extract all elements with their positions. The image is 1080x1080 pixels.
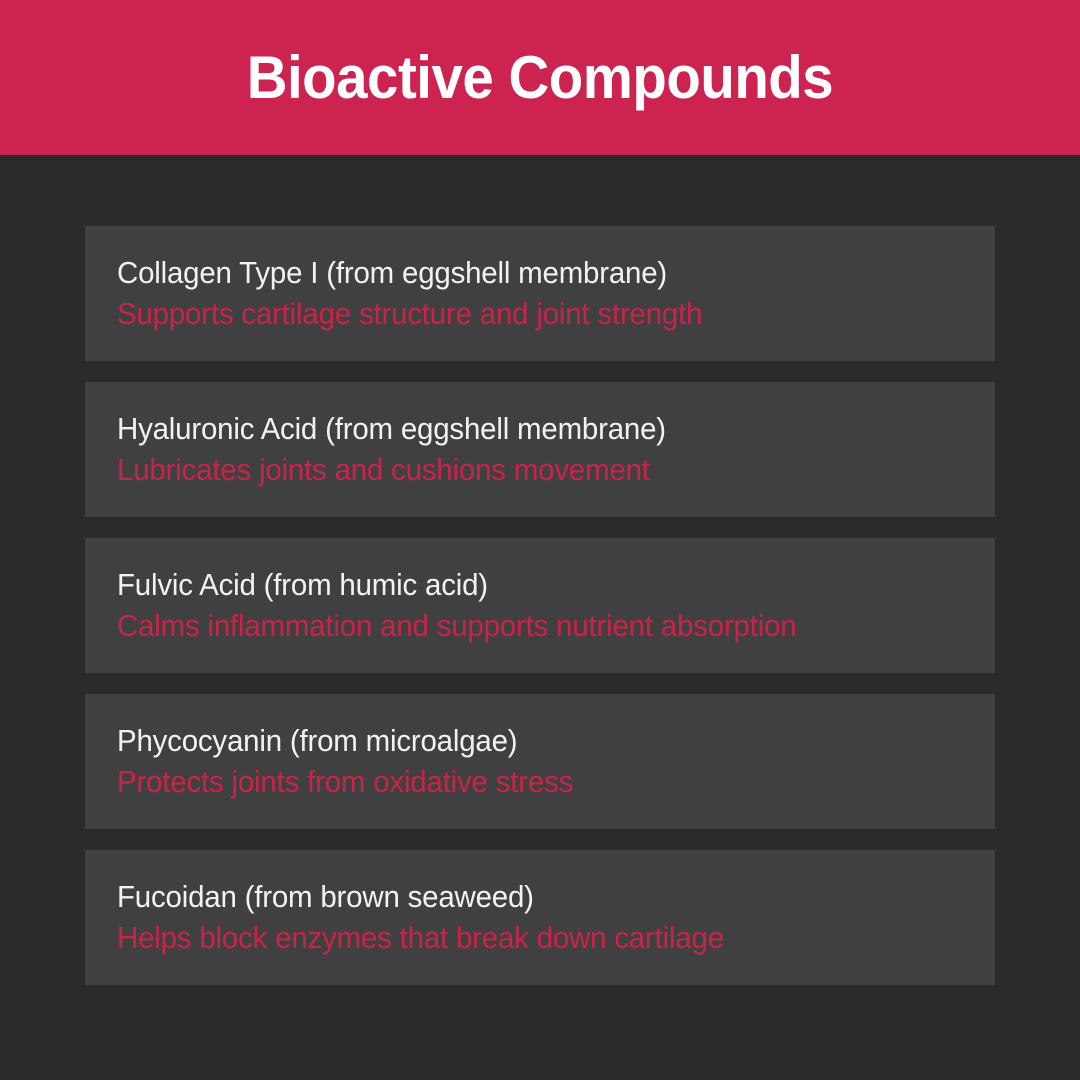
compound-name: Hyaluronic Acid (from eggshell membrane) [117, 412, 921, 447]
compound-benefit: Helps block enzymes that break down cart… [117, 921, 921, 956]
compound-name: Fucoidan (from brown seaweed) [117, 880, 921, 915]
compound-benefit: Supports cartilage structure and joint s… [117, 297, 921, 332]
compound-card-phycocyanin: Phycocyanin (from microalgae) Protects j… [85, 694, 995, 829]
compound-name: Collagen Type I (from eggshell membrane) [117, 256, 921, 291]
compound-card-collagen-type-i: Collagen Type I (from eggshell membrane)… [85, 226, 995, 361]
compound-card-hyaluronic-acid: Hyaluronic Acid (from eggshell membrane)… [85, 382, 995, 517]
compound-card-list: Collagen Type I (from eggshell membrane)… [85, 226, 995, 985]
compound-benefit: Protects joints from oxidative stress [117, 765, 921, 800]
compound-card-fucoidan: Fucoidan (from brown seaweed) Helps bloc… [85, 850, 995, 985]
compound-name: Phycocyanin (from microalgae) [117, 724, 921, 759]
compound-benefit: Lubricates joints and cushions movement [117, 453, 921, 488]
compound-benefit: Calms inflammation and supports nutrient… [117, 609, 921, 644]
bioactive-compounds-infographic: Bioactive Compounds Collagen Type I (fro… [0, 0, 1080, 1080]
header-banner: Bioactive Compounds [0, 0, 1080, 155]
compound-card-fulvic-acid: Fulvic Acid (from humic acid) Calms infl… [85, 538, 995, 673]
compound-name: Fulvic Acid (from humic acid) [117, 568, 921, 603]
page-title: Bioactive Compounds [247, 48, 833, 108]
